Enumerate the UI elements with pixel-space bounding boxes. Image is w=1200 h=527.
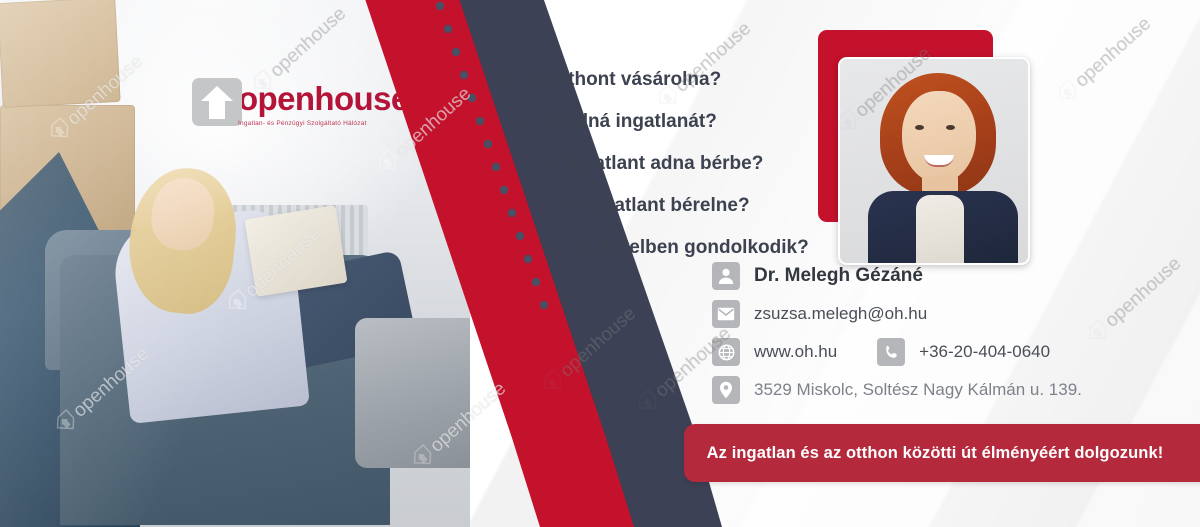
envelope-icon: [712, 300, 740, 328]
agent-phone[interactable]: +36-20-404-0640: [919, 342, 1050, 362]
checklist-item-label: Új otthont vásárolna?: [526, 69, 721, 91]
checklist-item[interactable]: ✓ Ingatlant bérelne?: [558, 188, 828, 224]
contact-row-address: 3529 Miskolc, Soltész Nagy Kálmán u. 139…: [712, 376, 1182, 404]
checklist-item[interactable]: ✓ Ingatlant adna bérbe?: [538, 146, 828, 182]
contact-row-email[interactable]: zsuzsa.melegh@oh.hu: [712, 300, 1182, 328]
check-icon: ✓: [520, 113, 536, 132]
agent-name: Dr. Melegh Gézáné: [754, 265, 923, 287]
globe-icon: [712, 338, 740, 366]
agent-address: 3529 Miskolc, Soltész Nagy Kálmán u. 139…: [754, 380, 1082, 400]
checklist-item[interactable]: ✓ Új otthont vásárolna?: [498, 62, 828, 98]
map-pin-icon: [712, 376, 740, 404]
logo-wordmark: openhouse: [238, 82, 409, 115]
checklist-item-label: Eladná ingatlanát?: [548, 111, 717, 133]
envelope-icon-glyph: [717, 307, 735, 321]
globe-icon-glyph: [718, 344, 735, 361]
person-icon: [712, 262, 740, 290]
portrait-face-shape: [902, 91, 976, 183]
logo-tagline: Ingatlan- és Pénzügyi Szolgáltató Hálóza…: [238, 120, 409, 127]
checklist-item[interactable]: ✓ Eladná ingatlanát?: [520, 104, 828, 140]
cta-banner[interactable]: Az ingatlan és az otthon közötti út élmé…: [684, 424, 1200, 482]
map-pin-icon-glyph: [719, 381, 733, 399]
check-icon: ✓: [538, 155, 554, 174]
cta-banner-text: Az ingatlan és az otthon közötti út élmé…: [707, 444, 1164, 463]
checklist-item-label: Ingatlant adna bérbe?: [566, 153, 763, 175]
check-icon: ✓: [558, 197, 574, 216]
contact-details: Dr. Melegh Gézáné zsuzsa.melegh@oh.hu: [712, 262, 1182, 414]
contact-row-web-phone: www.oh.hu +36-20-404-0640: [712, 338, 1182, 366]
avatar: [838, 57, 1030, 265]
openhouse-logo[interactable]: openhouse Ingatlan- és Pénzügyi Szolgált…: [192, 78, 409, 127]
check-icon: ✓: [576, 239, 592, 258]
person-icon-glyph: [717, 267, 735, 285]
agent-website[interactable]: www.oh.hu: [754, 342, 837, 362]
contact-row-name: Dr. Melegh Gézáné: [712, 262, 1182, 290]
house-icon: [192, 78, 242, 126]
house-icon-glyph: [201, 86, 233, 119]
checklist-item[interactable]: ✓ Hitelben gondolkodik?: [576, 230, 828, 266]
logo-text-block: openhouse Ingatlan- és Pénzügyi Szolgált…: [238, 82, 409, 127]
portrait-eye-shape: [915, 125, 924, 130]
checklist-item-label: Hitelben gondolkodik?: [604, 237, 809, 259]
portrait-shirt-shape: [916, 195, 964, 265]
services-checklist: ✓ Új otthont vásárolna? ✓ Eladná ingatla…: [468, 62, 828, 272]
checklist-item-label: Ingatlant bérelne?: [586, 195, 750, 217]
portrait-eye-shape: [946, 125, 955, 130]
openhouse-banner: openhouse Ingatlan- és Pénzügyi Szolgált…: [0, 0, 1200, 527]
check-icon: ✓: [498, 71, 514, 90]
phone-icon: [877, 338, 905, 366]
phone-icon-glyph: [883, 344, 900, 361]
agent-email: zsuzsa.melegh@oh.hu: [754, 304, 927, 324]
